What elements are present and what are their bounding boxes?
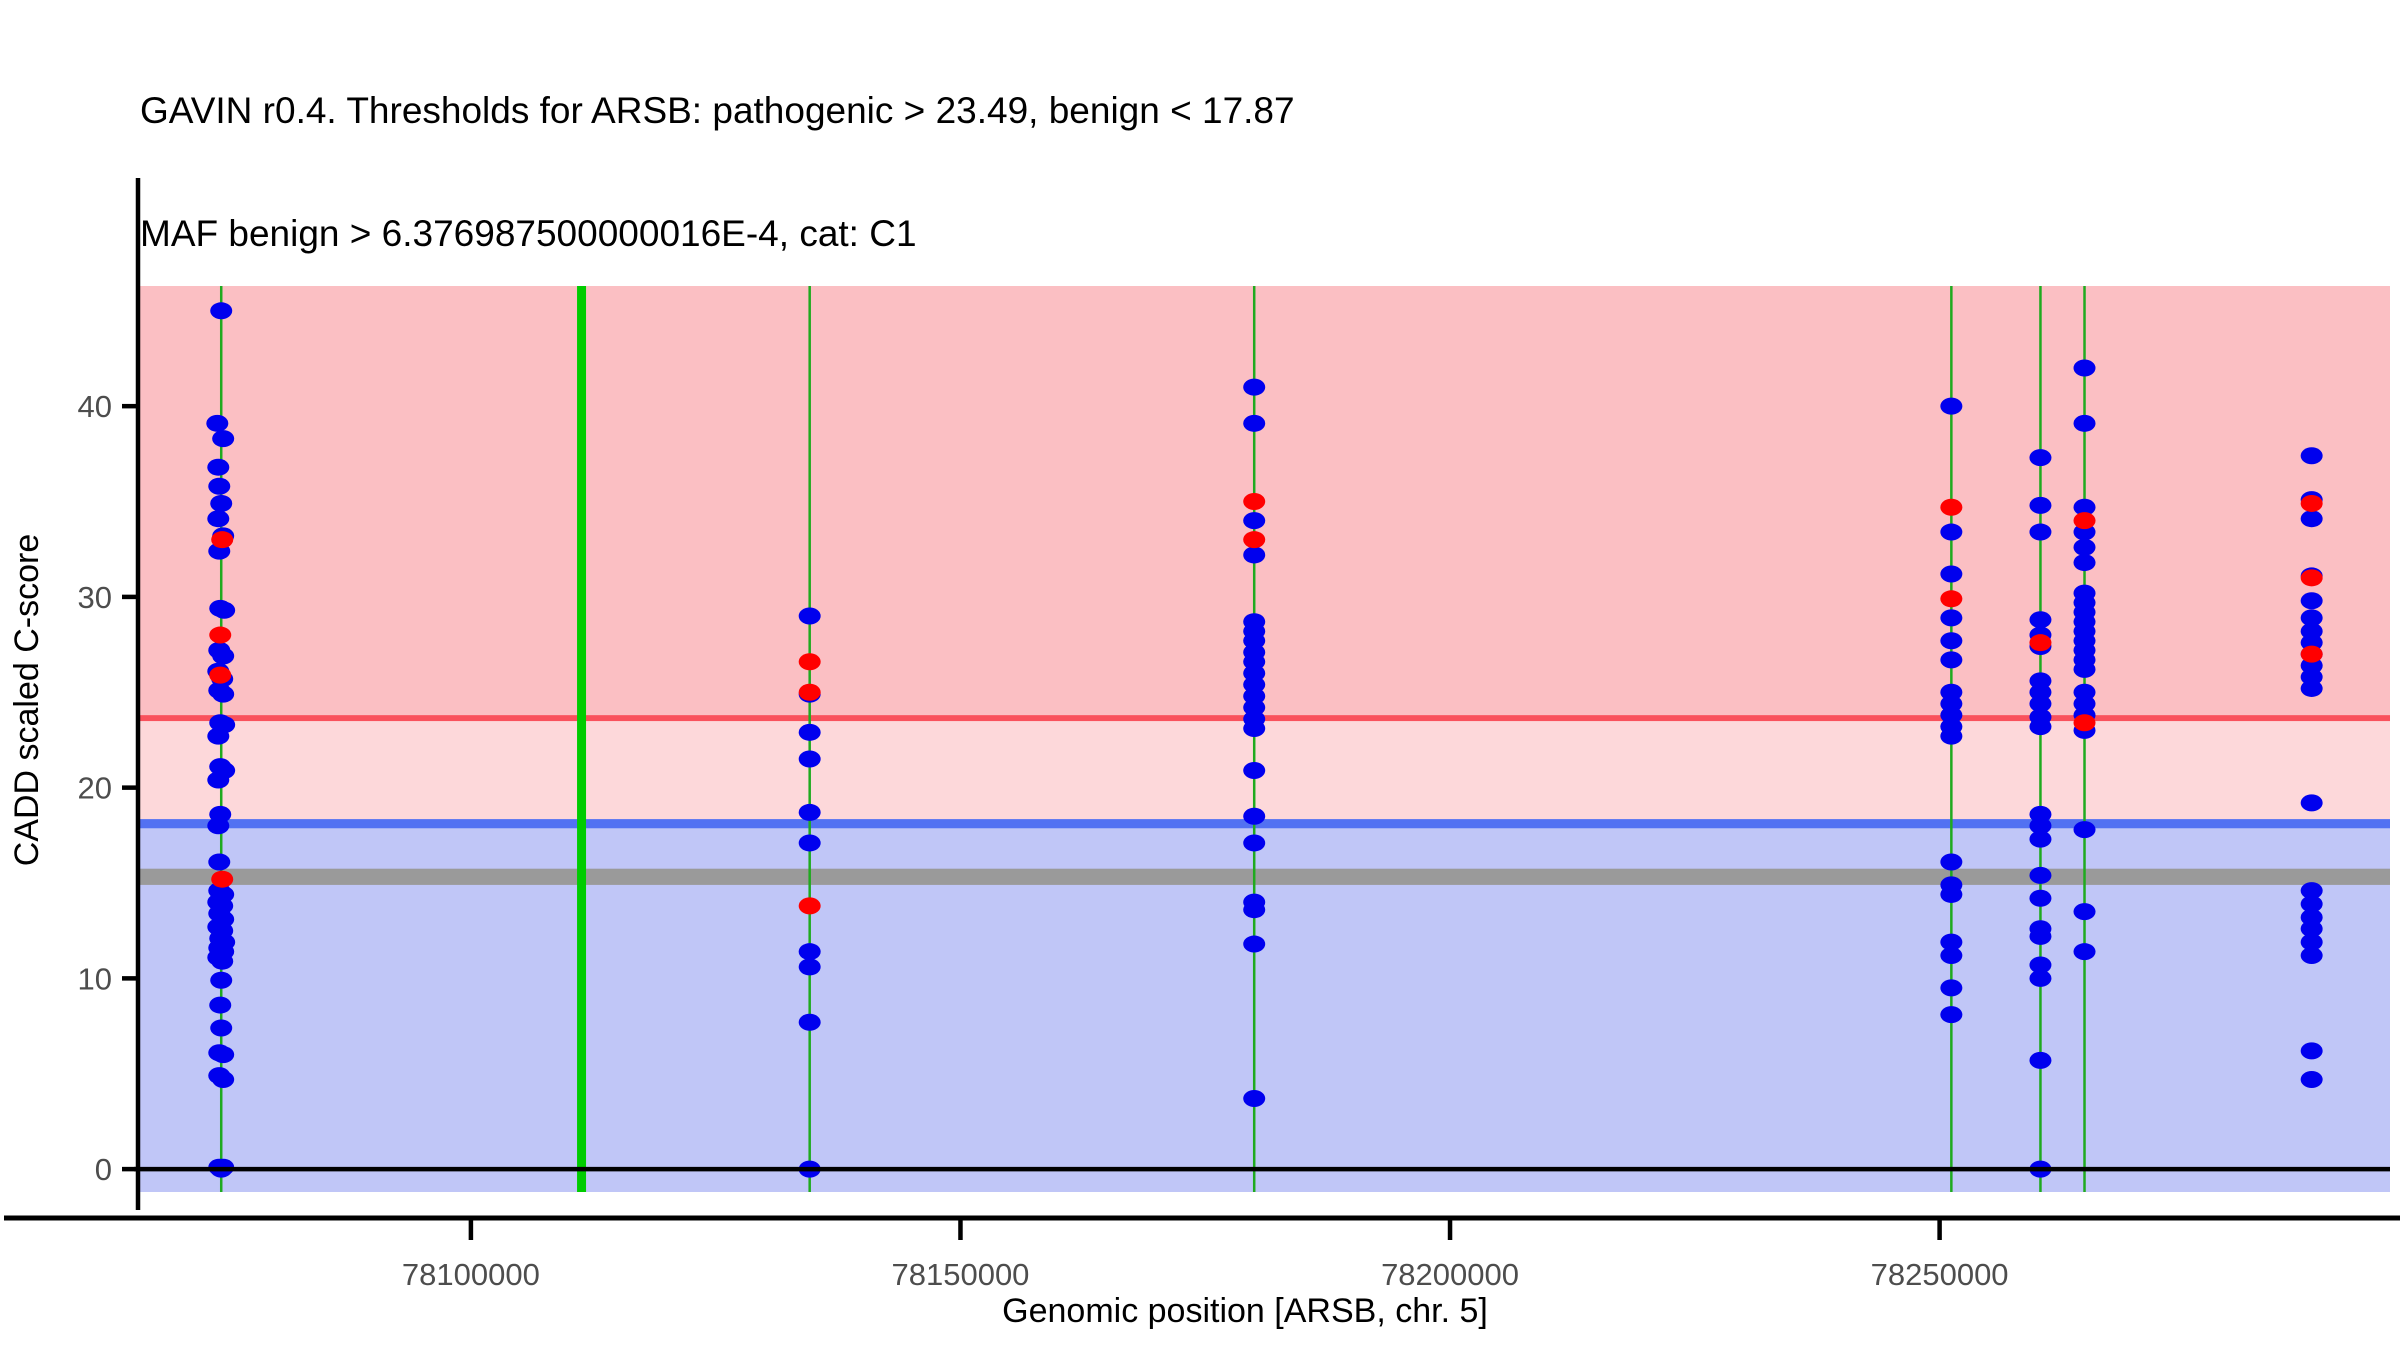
gnomad-point — [2301, 1071, 2323, 1088]
gnomad-point — [799, 834, 821, 851]
gnomad-point — [1243, 546, 1265, 563]
clinvar-point — [1940, 499, 1962, 516]
clinvar-point — [1243, 493, 1265, 510]
gnomad-point — [2074, 661, 2096, 678]
gnomad-point — [799, 751, 821, 768]
gnomad-point — [1940, 728, 1962, 745]
vous-zone — [138, 721, 2390, 828]
gnomad-point — [1940, 524, 1962, 541]
y-tick-label: 0 — [95, 1152, 112, 1187]
y-tick-label: 10 — [78, 961, 112, 996]
gnomad-point — [1940, 1006, 1962, 1023]
clinvar-point — [211, 531, 233, 548]
gnomad-point — [2301, 947, 2323, 964]
gnomad-point — [2029, 970, 2051, 987]
gnomad-point — [212, 686, 234, 703]
gnomad-point — [213, 602, 235, 619]
clinvar-point — [799, 653, 821, 670]
gnomad-point — [799, 1014, 821, 1031]
gnomad-point — [212, 430, 234, 447]
x-tick-label: 78250000 — [1871, 1257, 2009, 1292]
gnomad-point — [207, 459, 229, 476]
gnomad-point — [2029, 831, 2051, 848]
clinvar-point — [1243, 531, 1265, 548]
y-tick-label: 40 — [78, 389, 112, 424]
gnomad-point — [1243, 512, 1265, 529]
gnomad-point — [1940, 651, 1962, 668]
gnomad-point — [1243, 379, 1265, 396]
gnomad-point — [799, 943, 821, 960]
gnomad-point — [2074, 821, 2096, 838]
clinvar-point — [2301, 495, 2323, 512]
gnomad-point — [1243, 415, 1265, 432]
clinvar-point — [2029, 634, 2051, 651]
x-axis-title: Genomic position [ARSB, chr. 5] — [1002, 1292, 1488, 1330]
gnomad-point — [2301, 447, 2323, 464]
gnomad-point — [799, 724, 821, 741]
gnomad-point — [2074, 903, 2096, 920]
clinvar-point — [799, 684, 821, 701]
y-axis-title: CADD scaled C-score — [8, 534, 46, 867]
gnomad-point — [1940, 609, 1962, 626]
x-tick-label: 78200000 — [1381, 1257, 1519, 1292]
gnomad-point — [1243, 936, 1265, 953]
gnomad-point — [207, 510, 229, 527]
clinvar-point — [799, 897, 821, 914]
gnomad-point — [2029, 524, 2051, 541]
gnomad-point — [210, 302, 232, 319]
gnomad-point — [2301, 510, 2323, 527]
clinvar-point — [2074, 714, 2096, 731]
gnomad-point — [2029, 867, 2051, 884]
gnomad-point — [207, 772, 229, 789]
gnomad-point — [209, 997, 231, 1014]
clinvar-point — [211, 871, 233, 888]
gnomad-point — [2029, 611, 2051, 628]
gnomad-point — [208, 478, 230, 495]
gnomad-point — [2074, 360, 2096, 377]
gnomad-point — [1940, 947, 1962, 964]
gnomad-point — [210, 972, 232, 989]
clinvar-point — [209, 627, 231, 644]
fallback-threshold-line — [138, 869, 2390, 885]
gnomad-point — [207, 817, 229, 834]
gnomad-point — [1243, 1090, 1265, 1107]
gnomad-point — [2301, 1042, 2323, 1059]
gnomad-point — [2029, 928, 2051, 945]
gnomad-point — [212, 648, 234, 665]
gnomad-point — [1243, 834, 1265, 851]
gnomad-point — [2074, 539, 2096, 556]
gnomad-point — [2074, 943, 2096, 960]
gnomad-point — [2074, 415, 2096, 432]
gnomad-point — [2301, 680, 2323, 697]
gnomad-point — [2301, 592, 2323, 609]
gnomad-point — [210, 1019, 232, 1036]
gnomad-point — [206, 415, 228, 432]
gnomad-point — [1940, 632, 1962, 649]
gnomad-point — [2301, 794, 2323, 811]
gnomad-point — [1243, 808, 1265, 825]
clinvar-point — [2074, 512, 2096, 529]
clinvar-point — [209, 667, 231, 684]
gnomad-point — [2074, 554, 2096, 571]
gnomad-point — [1940, 398, 1962, 415]
clinvar-point — [1940, 590, 1962, 607]
gnomad-point — [2029, 449, 2051, 466]
gnomad-point — [799, 958, 821, 975]
gnomad-point — [1243, 901, 1265, 918]
x-tick-label: 78150000 — [892, 1257, 1030, 1292]
gnomad-point — [799, 607, 821, 624]
x-tick-label: 78100000 — [402, 1257, 540, 1292]
y-tick-label: 30 — [78, 580, 112, 615]
gnomad-point — [1243, 720, 1265, 737]
plot-page: GAVIN r0.4. Thresholds for ARSB: pathoge… — [0, 0, 2400, 1350]
gnomad-point — [2029, 890, 2051, 907]
gnomad-point — [211, 953, 233, 970]
gnomad-point — [210, 495, 232, 512]
gnomad-point — [799, 804, 821, 821]
y-tick-label: 20 — [78, 771, 112, 806]
gnomad-point — [2029, 1052, 2051, 1069]
gnomad-point — [1940, 566, 1962, 583]
gnomad-point — [2029, 718, 2051, 735]
gnomad-point — [1940, 886, 1962, 903]
gnomad-point — [2029, 497, 2051, 514]
gnomad-point — [1940, 854, 1962, 871]
gnomad-point — [1243, 762, 1265, 779]
clinvar-point — [2301, 569, 2323, 586]
scatter-chart: 0102030407810000078150000782000007825000… — [0, 0, 2400, 1350]
gnomad-point — [212, 1071, 234, 1088]
gnomad-point — [212, 1046, 234, 1063]
gnomad-point — [1940, 979, 1962, 996]
gnomad-point — [208, 854, 230, 871]
clinvar-point — [2301, 646, 2323, 663]
gnomad-point — [207, 728, 229, 745]
